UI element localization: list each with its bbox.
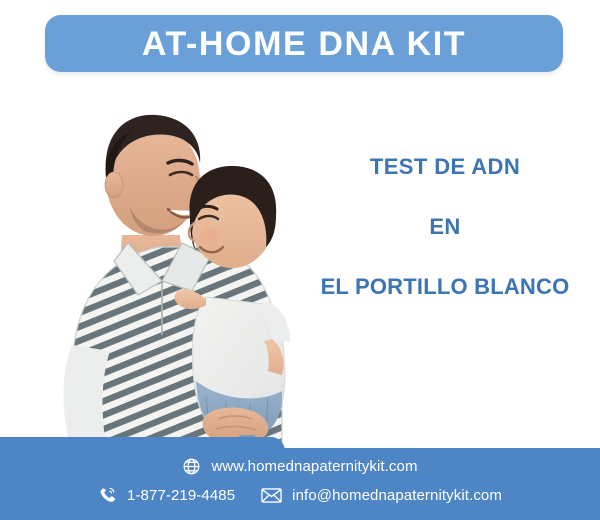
- footer-contact-bar: www.homednapaternitykit.com 1-877-219-44…: [0, 430, 600, 520]
- envelope-icon: [261, 486, 282, 505]
- poster-canvas: AT-HOME DNA KIT: [0, 0, 600, 520]
- phone-item[interactable]: 1-877-219-4485: [98, 486, 235, 505]
- footer-row-website: www.homednapaternitykit.com: [0, 457, 600, 476]
- email-item[interactable]: info@homednapaternitykit.com: [261, 486, 502, 505]
- phone-text: 1-877-219-4485: [127, 487, 235, 504]
- email-text: info@homednapaternitykit.com: [292, 487, 502, 504]
- father-and-child-photo: [10, 85, 320, 460]
- headline-line-1: TEST DE ADN: [300, 155, 590, 179]
- headline-line-2: EN: [300, 215, 590, 239]
- website-text: www.homednapaternitykit.com: [211, 458, 417, 475]
- globe-icon: [182, 457, 201, 476]
- location-headline: TEST DE ADN EN EL PORTILLO BLANCO: [300, 155, 590, 300]
- website-item[interactable]: www.homednapaternitykit.com: [182, 457, 417, 476]
- banner-title: AT-HOME DNA KIT: [142, 27, 466, 61]
- footer-row-phone-email: 1-877-219-4485 info@homednapaternitykit.…: [0, 486, 600, 505]
- headline-line-3: EL PORTILLO BLANCO: [300, 275, 590, 299]
- header-banner: AT-HOME DNA KIT: [45, 15, 563, 72]
- phone-icon: [98, 486, 117, 505]
